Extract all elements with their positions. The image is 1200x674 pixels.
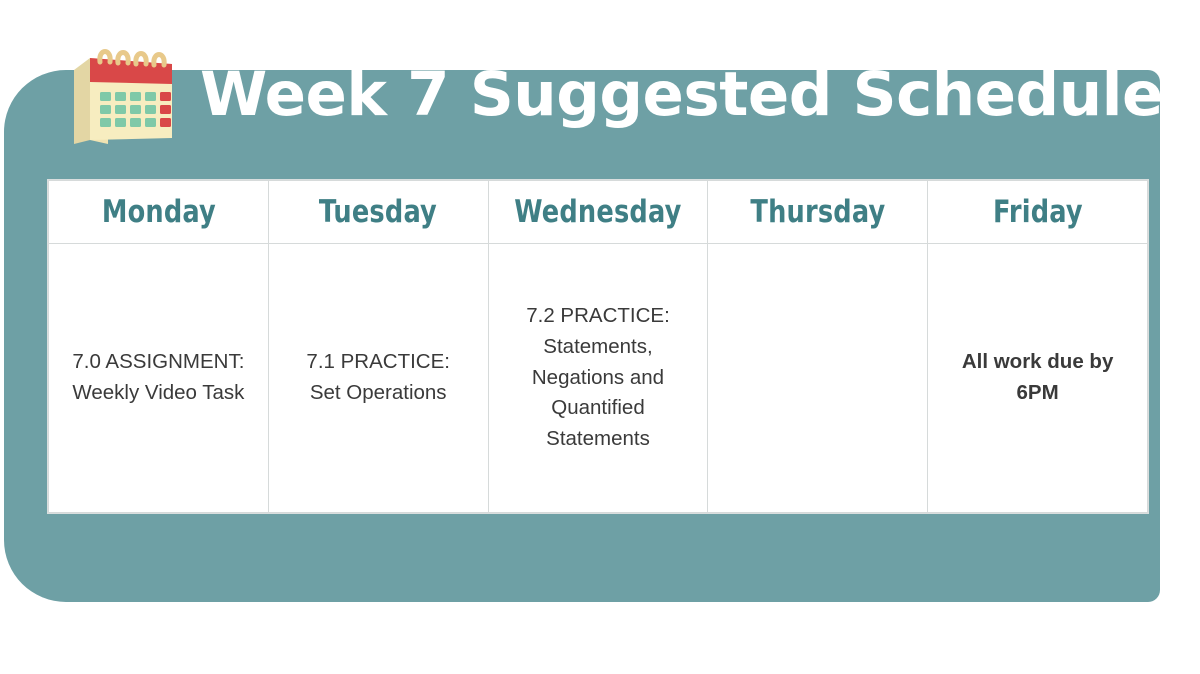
column-header-monday: Monday — [57, 181, 259, 244]
title-row: Week 7 Suggested Schedule — [60, 32, 1150, 152]
column-header-tuesday: Tuesday — [277, 181, 479, 244]
page-title: Week 7 Suggested Schedule — [200, 64, 1163, 125]
cell-friday-text: All work due by 6PM — [940, 347, 1135, 409]
table-header-row: Monday Tuesday Wednesday Thursday Friday — [49, 181, 1148, 244]
column-header-wednesday: Wednesday — [497, 181, 699, 244]
cell-thursday — [708, 244, 928, 513]
table-row: 7.0 ASSIGNMENT: Weekly Video Task 7.1 PR… — [49, 244, 1148, 513]
weekly-schedule-table: Monday Tuesday Wednesday Thursday Friday… — [48, 180, 1148, 513]
cell-tuesday-text: 7.1 PRACTICE: Set Operations — [281, 347, 476, 409]
column-header-friday: Friday — [936, 181, 1138, 244]
slide-canvas: Week 7 Suggested Schedule Monday Tuesday… — [0, 0, 1200, 674]
calendar-icon — [60, 40, 182, 148]
cell-friday: All work due by 6PM — [928, 244, 1148, 513]
column-header-thursday: Thursday — [717, 181, 919, 244]
cell-wednesday-text: 7.2 PRACTICE: Statements, Negations and … — [501, 301, 696, 455]
cell-wednesday: 7.2 PRACTICE: Statements, Negations and … — [488, 244, 708, 513]
cell-monday-text: 7.0 ASSIGNMENT: Weekly Video Task — [61, 347, 256, 409]
table-header: Monday Tuesday Wednesday Thursday Friday — [49, 181, 1148, 244]
cell-monday: 7.0 ASSIGNMENT: Weekly Video Task — [49, 244, 269, 513]
cell-tuesday: 7.1 PRACTICE: Set Operations — [268, 244, 488, 513]
table-body: 7.0 ASSIGNMENT: Weekly Video Task 7.1 PR… — [49, 244, 1148, 513]
